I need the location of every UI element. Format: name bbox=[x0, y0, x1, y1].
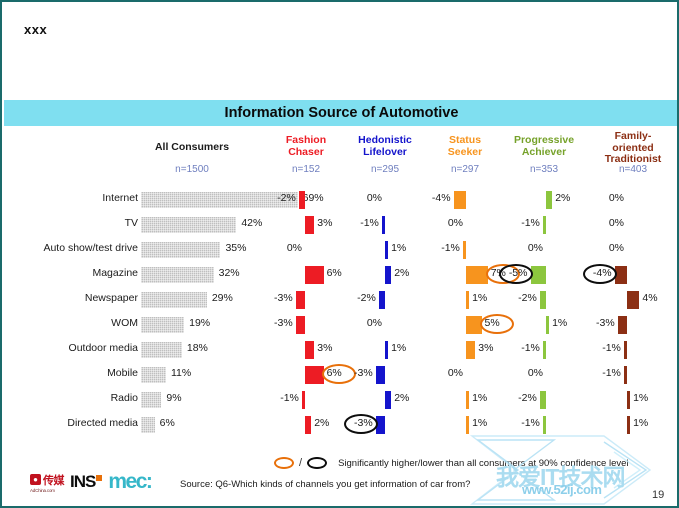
diff-value: 1% bbox=[633, 392, 648, 404]
page-title: xxx bbox=[24, 22, 47, 37]
diff-bar bbox=[531, 266, 547, 284]
all-consumers-value: 42% bbox=[241, 217, 262, 229]
ins-logo: INS bbox=[70, 472, 102, 492]
diff-bar bbox=[296, 316, 305, 334]
diff-value: -3% bbox=[274, 317, 293, 329]
row-label-cell: Auto show/test drive bbox=[2, 238, 138, 263]
row-label: TV bbox=[2, 217, 138, 229]
diff-value: -1% bbox=[521, 217, 540, 229]
diff-value: 4% bbox=[642, 292, 657, 304]
chart-row: Internet69%-2%0%-4%2%0% bbox=[2, 188, 679, 213]
diff-bar bbox=[618, 316, 627, 334]
diff-bar bbox=[466, 416, 469, 434]
row-label: Radio bbox=[2, 392, 138, 404]
diff-bar bbox=[624, 366, 627, 384]
diff-value: 1% bbox=[472, 417, 487, 429]
diff-value: 0% bbox=[287, 242, 302, 254]
diff-value: -5% bbox=[509, 267, 528, 279]
watermark-url: www.52ij.com bbox=[522, 482, 602, 497]
diff-bar bbox=[546, 191, 552, 209]
diff-value: 0% bbox=[528, 367, 543, 379]
diff-value: 6% bbox=[327, 267, 342, 279]
chart-row: Newspaper29%-3%-2%1%-2%4% bbox=[2, 288, 679, 313]
diff-bar bbox=[543, 216, 546, 234]
diff-value: 0% bbox=[609, 242, 624, 254]
all-consumers-bar bbox=[141, 367, 166, 383]
watermark-wing-icon bbox=[454, 434, 679, 508]
row-label-cell: Magazine bbox=[2, 263, 138, 288]
column-header-all-consumers: All Consumers bbox=[117, 142, 267, 154]
diff-value: 1% bbox=[472, 392, 487, 404]
all-consumers-value: 29% bbox=[212, 292, 233, 304]
all-consumers-value: 35% bbox=[225, 242, 246, 254]
slide-canvas: xxx Information Source of Automotive All… bbox=[0, 0, 679, 508]
diff-value: 3% bbox=[317, 342, 332, 354]
diff-bar bbox=[379, 291, 385, 309]
diff-value: -1% bbox=[602, 342, 621, 354]
mec-logo: mec: bbox=[108, 470, 151, 494]
adchina-mark-icon: ● bbox=[30, 474, 41, 485]
diff-bar bbox=[305, 416, 311, 434]
diff-bar bbox=[376, 366, 385, 384]
diff-value: 6% bbox=[327, 367, 342, 379]
significance-legend: / Significantly higher/lower than all co… bbox=[274, 457, 629, 469]
watermark: 我爱IT技术网 www.52ij.com bbox=[454, 434, 679, 508]
legend-note-text: Significantly higher/lower than all cons… bbox=[338, 458, 628, 469]
chart-row: TV42%3%-1%0%-1%0% bbox=[2, 213, 679, 238]
chart-row: WOM19%-3%0%5%1%-3% bbox=[2, 313, 679, 338]
column-n-all-consumers: n=1500 bbox=[117, 164, 267, 175]
ins-logo-text: INS bbox=[70, 472, 95, 491]
diff-value: -4% bbox=[432, 192, 451, 204]
diff-value: -1% bbox=[521, 417, 540, 429]
diff-value: 5% bbox=[485, 317, 500, 329]
row-label: WOM bbox=[2, 317, 138, 329]
chart-row: Magazine32%6%2%7%-5%-4% bbox=[2, 263, 679, 288]
banner-title: Information Source of Automotive bbox=[225, 105, 459, 121]
adchina-logo: ● 传媒 AdChina.com bbox=[30, 472, 64, 493]
diff-value: 1% bbox=[391, 242, 406, 254]
mec-colon-icon: : bbox=[146, 470, 152, 493]
diff-bar bbox=[546, 316, 549, 334]
diff-bar bbox=[385, 266, 391, 284]
diff-bar bbox=[466, 316, 482, 334]
all-consumers-bar bbox=[141, 392, 161, 408]
row-label-cell: Mobile bbox=[2, 363, 138, 388]
diff-bar bbox=[627, 391, 630, 409]
diff-value: 7% bbox=[491, 267, 506, 279]
diff-value: 3% bbox=[317, 217, 332, 229]
row-label-cell: WOM bbox=[2, 313, 138, 338]
diff-bar bbox=[624, 341, 627, 359]
diff-bar bbox=[385, 341, 388, 359]
diff-bar bbox=[299, 191, 305, 209]
column-n-progressive-achiever: n=353 bbox=[500, 164, 588, 175]
diff-value: 0% bbox=[609, 192, 624, 204]
row-label-cell: Newspaper bbox=[2, 288, 138, 313]
all-consumers-bar-track: 19% bbox=[141, 313, 321, 338]
all-consumers-value: 69% bbox=[303, 192, 324, 204]
diff-bar bbox=[543, 341, 546, 359]
legend-separator: / bbox=[299, 457, 302, 469]
diff-value: -2% bbox=[357, 292, 376, 304]
diff-value: 2% bbox=[555, 192, 570, 204]
column-header-progressive-achiever: Progressive Achiever bbox=[500, 135, 588, 158]
all-consumers-bar-track: 6% bbox=[141, 413, 321, 438]
row-label: Magazine bbox=[2, 267, 138, 279]
diff-bar bbox=[540, 391, 546, 409]
all-consumers-bar bbox=[141, 192, 298, 208]
all-consumers-value: 6% bbox=[160, 417, 175, 429]
diff-value: 0% bbox=[528, 242, 543, 254]
diff-bar bbox=[376, 416, 385, 434]
diff-bar bbox=[627, 291, 639, 309]
source-note: Source: Q6-Which kinds of channels you g… bbox=[180, 479, 470, 490]
row-label-cell: Outdoor media bbox=[2, 338, 138, 363]
row-label: Auto show/test drive bbox=[2, 242, 138, 254]
column-header-family-oriented-traditionist: Family- oriented Traditionist bbox=[590, 131, 676, 166]
diff-bar bbox=[305, 341, 314, 359]
diff-value: 1% bbox=[391, 342, 406, 354]
diff-bar bbox=[540, 291, 546, 309]
row-label: Directed media bbox=[2, 417, 138, 429]
row-label-cell: Radio bbox=[2, 388, 138, 413]
chart-row: Auto show/test drive35%0%1%-1%0%0% bbox=[2, 238, 679, 263]
row-label: Newspaper bbox=[2, 292, 138, 304]
column-n-fashion-chaser: n=152 bbox=[274, 164, 338, 175]
page-number: 19 bbox=[652, 489, 664, 501]
ins-square-icon bbox=[96, 475, 102, 481]
all-consumers-bar bbox=[141, 242, 220, 258]
all-consumers-bar bbox=[141, 417, 155, 433]
diff-bar bbox=[382, 216, 385, 234]
section-banner: Information Source of Automotive bbox=[4, 100, 679, 126]
all-consumers-value: 11% bbox=[171, 367, 191, 379]
adchina-logo-text: 传媒 bbox=[43, 472, 64, 488]
diff-value: -3% bbox=[354, 417, 373, 429]
chart-row: Radio9%-1%2%1%-2%1% bbox=[2, 388, 679, 413]
diff-value: -2% bbox=[518, 292, 537, 304]
diff-value: -1% bbox=[602, 367, 621, 379]
diff-value: -2% bbox=[277, 192, 296, 204]
chart-row: Outdoor media18%3%1%3%-1%-1% bbox=[2, 338, 679, 363]
diff-value: 2% bbox=[394, 267, 409, 279]
diff-bar bbox=[463, 241, 466, 259]
diff-value: 0% bbox=[609, 217, 624, 229]
diff-bar bbox=[385, 241, 388, 259]
diff-value: -4% bbox=[593, 267, 612, 279]
diff-value: -2% bbox=[518, 392, 537, 404]
diff-value: 0% bbox=[448, 367, 463, 379]
diff-value: 3% bbox=[478, 342, 493, 354]
chart-row: Directed media6%2%-3%1%-1%1% bbox=[2, 413, 679, 438]
all-consumers-bar bbox=[141, 292, 207, 308]
all-consumers-bar-track: 42% bbox=[141, 213, 321, 238]
adchina-logo-subtext: AdChina.com bbox=[30, 488, 55, 493]
diff-bar bbox=[627, 416, 630, 434]
all-consumers-bar bbox=[141, 217, 236, 233]
diff-bar bbox=[466, 291, 469, 309]
higher-marker-icon bbox=[274, 457, 294, 469]
diff-value: -1% bbox=[280, 392, 299, 404]
diff-value: -1% bbox=[360, 217, 379, 229]
diff-value: 2% bbox=[394, 392, 409, 404]
all-consumers-value: 19% bbox=[189, 317, 210, 329]
column-n-status-seeker: n=297 bbox=[430, 164, 500, 175]
diff-bar bbox=[615, 266, 627, 284]
chart-rows: Internet69%-2%0%-4%2%0%TV42%3%-1%0%-1%0%… bbox=[2, 188, 679, 438]
logo-group: ● 传媒 AdChina.com INS mec: bbox=[30, 470, 151, 494]
diff-value: 0% bbox=[367, 192, 382, 204]
diff-bar bbox=[385, 391, 391, 409]
diff-value: -1% bbox=[521, 342, 540, 354]
lower-marker-icon bbox=[307, 457, 327, 469]
diff-bar bbox=[466, 391, 469, 409]
all-consumers-bar-track: 29% bbox=[141, 288, 321, 313]
diff-value: 1% bbox=[472, 292, 487, 304]
chart-row: Mobile11%6%-3%0%0%-1% bbox=[2, 363, 679, 388]
all-consumers-value: 32% bbox=[219, 267, 240, 279]
diff-value: 1% bbox=[633, 417, 648, 429]
diff-bar bbox=[454, 191, 466, 209]
all-consumers-bar-track: 32% bbox=[141, 263, 321, 288]
all-consumers-value: 9% bbox=[166, 392, 181, 404]
all-consumers-bar-track: 11% bbox=[141, 363, 321, 388]
diff-bar bbox=[466, 341, 475, 359]
all-consumers-bar bbox=[141, 342, 182, 358]
row-label: Mobile bbox=[2, 367, 138, 379]
diff-value: 1% bbox=[552, 317, 567, 329]
mec-logo-text: mec bbox=[108, 470, 146, 493]
diff-bar bbox=[305, 266, 324, 284]
diff-bar bbox=[466, 266, 488, 284]
diff-bar bbox=[305, 366, 324, 384]
all-consumers-value: 18% bbox=[187, 342, 208, 354]
diff-bar bbox=[302, 391, 305, 409]
all-consumers-bar bbox=[141, 267, 214, 283]
diff-value: -3% bbox=[274, 292, 293, 304]
diff-value: 0% bbox=[448, 217, 463, 229]
diff-bar bbox=[296, 291, 305, 309]
column-header-fashion-chaser: Fashion Chaser bbox=[274, 135, 338, 158]
row-label: Outdoor media bbox=[2, 342, 138, 354]
column-n-family-oriented-traditionist: n=403 bbox=[590, 164, 676, 175]
diff-value: 0% bbox=[367, 317, 382, 329]
diff-value: -1% bbox=[441, 242, 460, 254]
column-header-hedonistic-lifelover: Hedonistic Lifelover bbox=[345, 135, 425, 158]
row-label-cell: Internet bbox=[2, 188, 138, 213]
all-consumers-bar-track: 18% bbox=[141, 338, 321, 363]
diff-bar bbox=[543, 416, 546, 434]
row-label: Internet bbox=[2, 192, 138, 204]
column-header-status-seeker: Status Seeker bbox=[430, 135, 500, 158]
diff-value: 2% bbox=[314, 417, 329, 429]
diff-bar bbox=[305, 216, 314, 234]
row-label-cell: TV bbox=[2, 213, 138, 238]
all-consumers-bar bbox=[141, 317, 184, 333]
row-label-cell: Directed media bbox=[2, 413, 138, 438]
column-n-hedonistic-lifelover: n=295 bbox=[345, 164, 425, 175]
diff-value: -3% bbox=[354, 367, 373, 379]
diff-value: -3% bbox=[596, 317, 615, 329]
